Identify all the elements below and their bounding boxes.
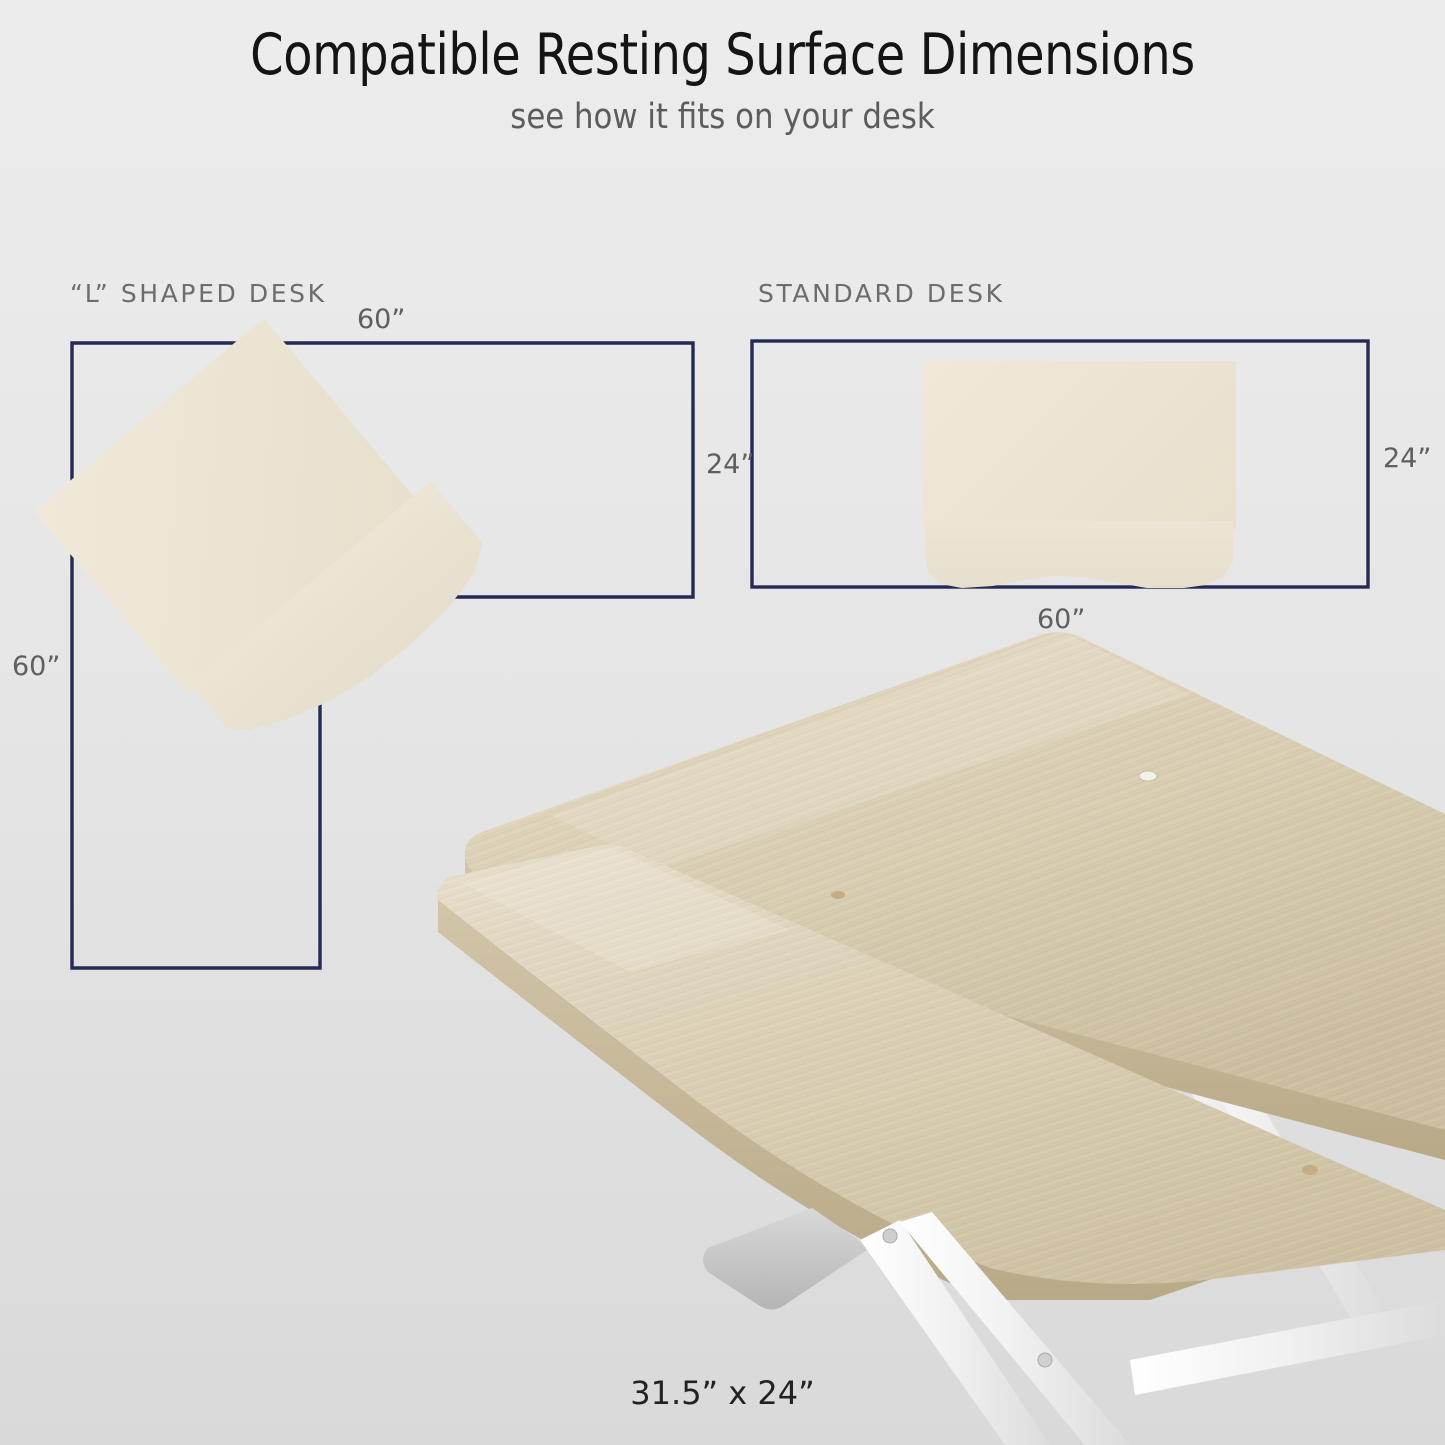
standard-desk-label: STANDARD DESK [758,280,1005,308]
riser-desktop-footprint [922,361,1236,529]
standing-desk-converter-illustration [430,600,1445,1445]
l-desk-depth-dimension: 60” [12,652,60,682]
tray-screw [1302,1165,1318,1175]
product-dimensions-caption: 31.5” x 24” [0,1374,1445,1412]
l-desk-width-dimension: 60” [357,305,405,335]
base-pivot-screw [883,1229,897,1243]
screw-upper-left-2 [831,891,845,899]
infographic-canvas: Compatible Resting Surface Dimensions se… [0,0,1445,1445]
standard-desk-depth-dimension-left: 24” [706,450,754,480]
page-subtitle: see how it fits on your desk [87,96,1359,138]
l-shaped-desk-label: “L” SHAPED DESK [70,280,327,308]
product-photo [430,600,1445,1445]
standard-desk-riser-footprint [920,361,1238,588]
desktop-grommet-hole [1139,771,1157,781]
riser-keyboard-tray-footprint [925,521,1233,588]
page-title: Compatible Resting Surface Dimensions [116,22,1330,88]
standard-desk-depth-dimension-right: 24” [1383,444,1431,474]
base-pivot-screw-lower [1038,1353,1052,1367]
